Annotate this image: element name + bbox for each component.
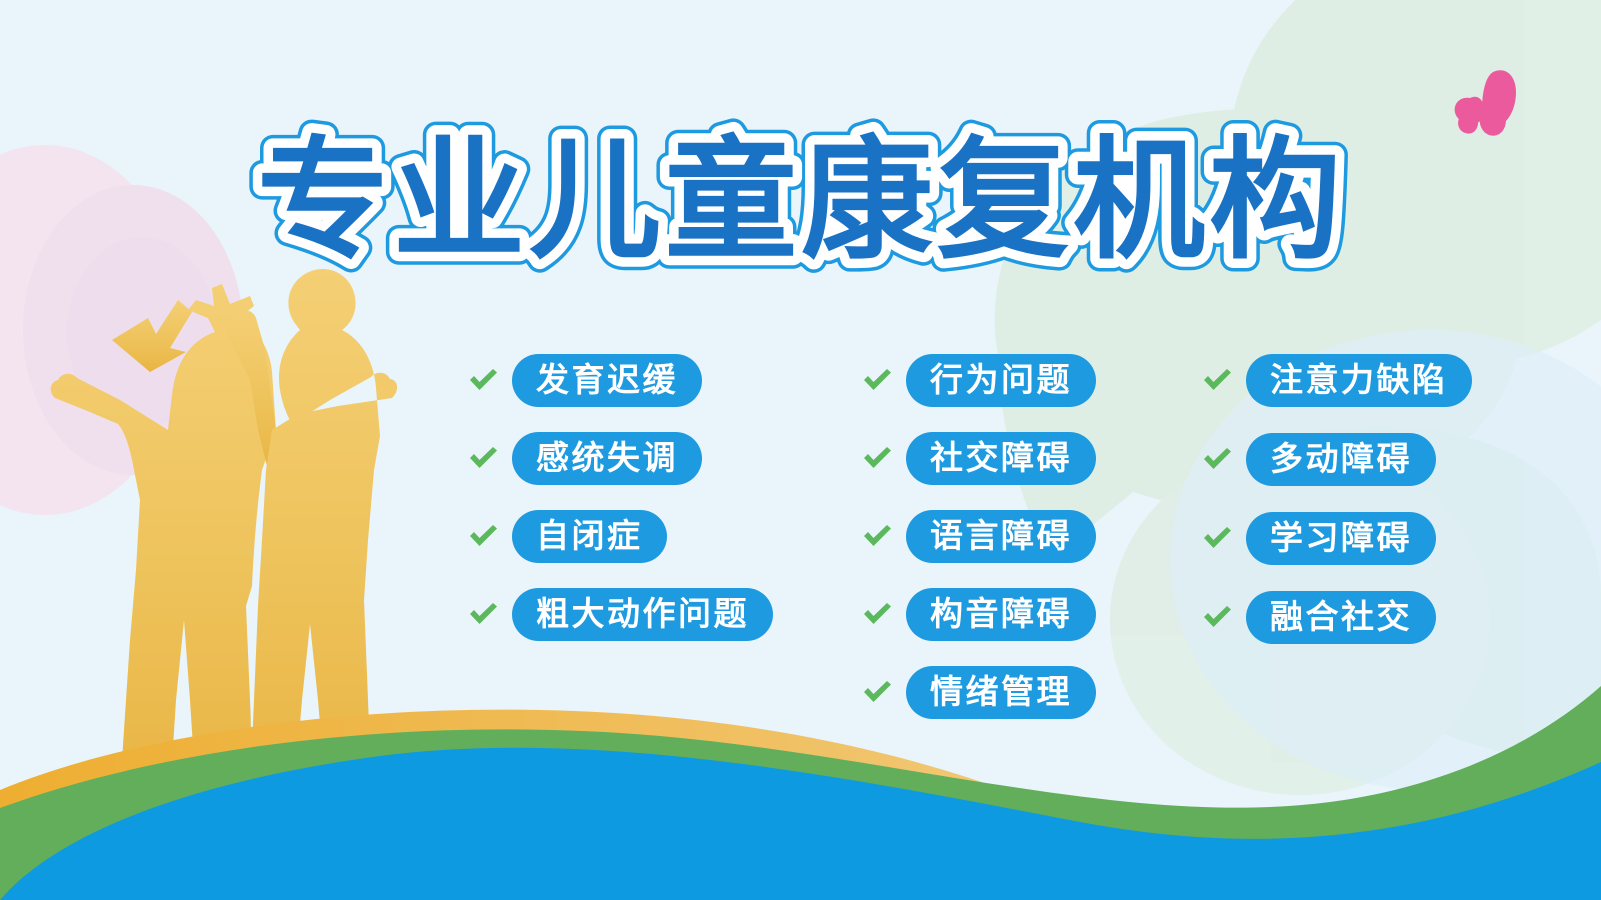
tag-row: 发育迟缓 bbox=[466, 352, 702, 408]
service-tag-label: 自闭症 bbox=[536, 519, 643, 552]
check-icon bbox=[860, 441, 894, 475]
service-tag-label: 注意力缺陷 bbox=[1270, 363, 1448, 396]
poster-canvas: 专业儿童康复机构 专业儿童康复机构 专业儿童康复机构 发育迟缓感统失调自闭症粗大… bbox=[0, 0, 1601, 900]
service-tag-pill[interactable]: 构音障碍 bbox=[906, 588, 1096, 641]
service-tag-label: 融合社交 bbox=[1270, 600, 1412, 633]
tag-row: 多动障碍 bbox=[1200, 431, 1436, 487]
tag-row: 融合社交 bbox=[1200, 589, 1436, 645]
tag-row: 构音障碍 bbox=[860, 586, 1096, 642]
check-icon bbox=[860, 597, 894, 631]
tag-row: 情绪管理 bbox=[860, 664, 1096, 720]
tag-row: 学习障碍 bbox=[1200, 510, 1436, 566]
service-tag-grid: 发育迟缓感统失调自闭症粗大动作问题 行为问题社交障碍语言障碍构音障碍情绪管理 注… bbox=[0, 0, 1601, 900]
tag-row: 行为问题 bbox=[860, 352, 1096, 408]
service-tag-label: 社交障碍 bbox=[930, 441, 1072, 474]
service-tag-pill[interactable]: 学习障碍 bbox=[1246, 512, 1436, 565]
service-tag-pill[interactable]: 情绪管理 bbox=[906, 666, 1096, 719]
service-tag-label: 情绪管理 bbox=[930, 675, 1072, 708]
check-icon bbox=[466, 519, 500, 553]
check-icon bbox=[466, 597, 500, 631]
check-icon bbox=[1200, 363, 1234, 397]
tag-column-3: 注意力缺陷多动障碍学习障碍融合社交 bbox=[1200, 352, 1472, 668]
service-tag-pill[interactable]: 注意力缺陷 bbox=[1246, 354, 1472, 407]
service-tag-label: 多动障碍 bbox=[1270, 442, 1412, 475]
service-tag-pill[interactable]: 粗大动作问题 bbox=[512, 588, 773, 641]
service-tag-pill[interactable]: 社交障碍 bbox=[906, 432, 1096, 485]
tag-row: 感统失调 bbox=[466, 430, 702, 486]
service-tag-label: 语言障碍 bbox=[930, 519, 1072, 552]
service-tag-pill[interactable]: 语言障碍 bbox=[906, 510, 1096, 563]
service-tag-label: 行为问题 bbox=[930, 363, 1072, 396]
service-tag-label: 粗大动作问题 bbox=[536, 597, 749, 630]
check-icon bbox=[860, 675, 894, 709]
check-icon bbox=[860, 363, 894, 397]
tag-column-2: 行为问题社交障碍语言障碍构音障碍情绪管理 bbox=[860, 352, 1096, 742]
tag-row: 自闭症 bbox=[466, 508, 667, 564]
check-icon bbox=[860, 519, 894, 553]
service-tag-label: 学习障碍 bbox=[1270, 521, 1412, 554]
service-tag-pill[interactable]: 发育迟缓 bbox=[512, 354, 702, 407]
check-icon bbox=[1200, 442, 1234, 476]
service-tag-pill[interactable]: 多动障碍 bbox=[1246, 433, 1436, 486]
service-tag-pill[interactable]: 行为问题 bbox=[906, 354, 1096, 407]
service-tag-label: 构音障碍 bbox=[930, 597, 1072, 630]
tag-row: 注意力缺陷 bbox=[1200, 352, 1472, 408]
service-tag-pill[interactable]: 自闭症 bbox=[512, 510, 667, 563]
tag-row: 语言障碍 bbox=[860, 508, 1096, 564]
tag-column-1: 发育迟缓感统失调自闭症粗大动作问题 bbox=[466, 352, 773, 664]
tag-row: 社交障碍 bbox=[860, 430, 1096, 486]
service-tag-pill[interactable]: 感统失调 bbox=[512, 432, 702, 485]
service-tag-label: 感统失调 bbox=[536, 441, 678, 474]
service-tag-label: 发育迟缓 bbox=[536, 363, 678, 396]
check-icon bbox=[466, 441, 500, 475]
tag-row: 粗大动作问题 bbox=[466, 586, 773, 642]
check-icon bbox=[1200, 600, 1234, 634]
check-icon bbox=[466, 363, 500, 397]
check-icon bbox=[1200, 521, 1234, 555]
service-tag-pill[interactable]: 融合社交 bbox=[1246, 591, 1436, 644]
